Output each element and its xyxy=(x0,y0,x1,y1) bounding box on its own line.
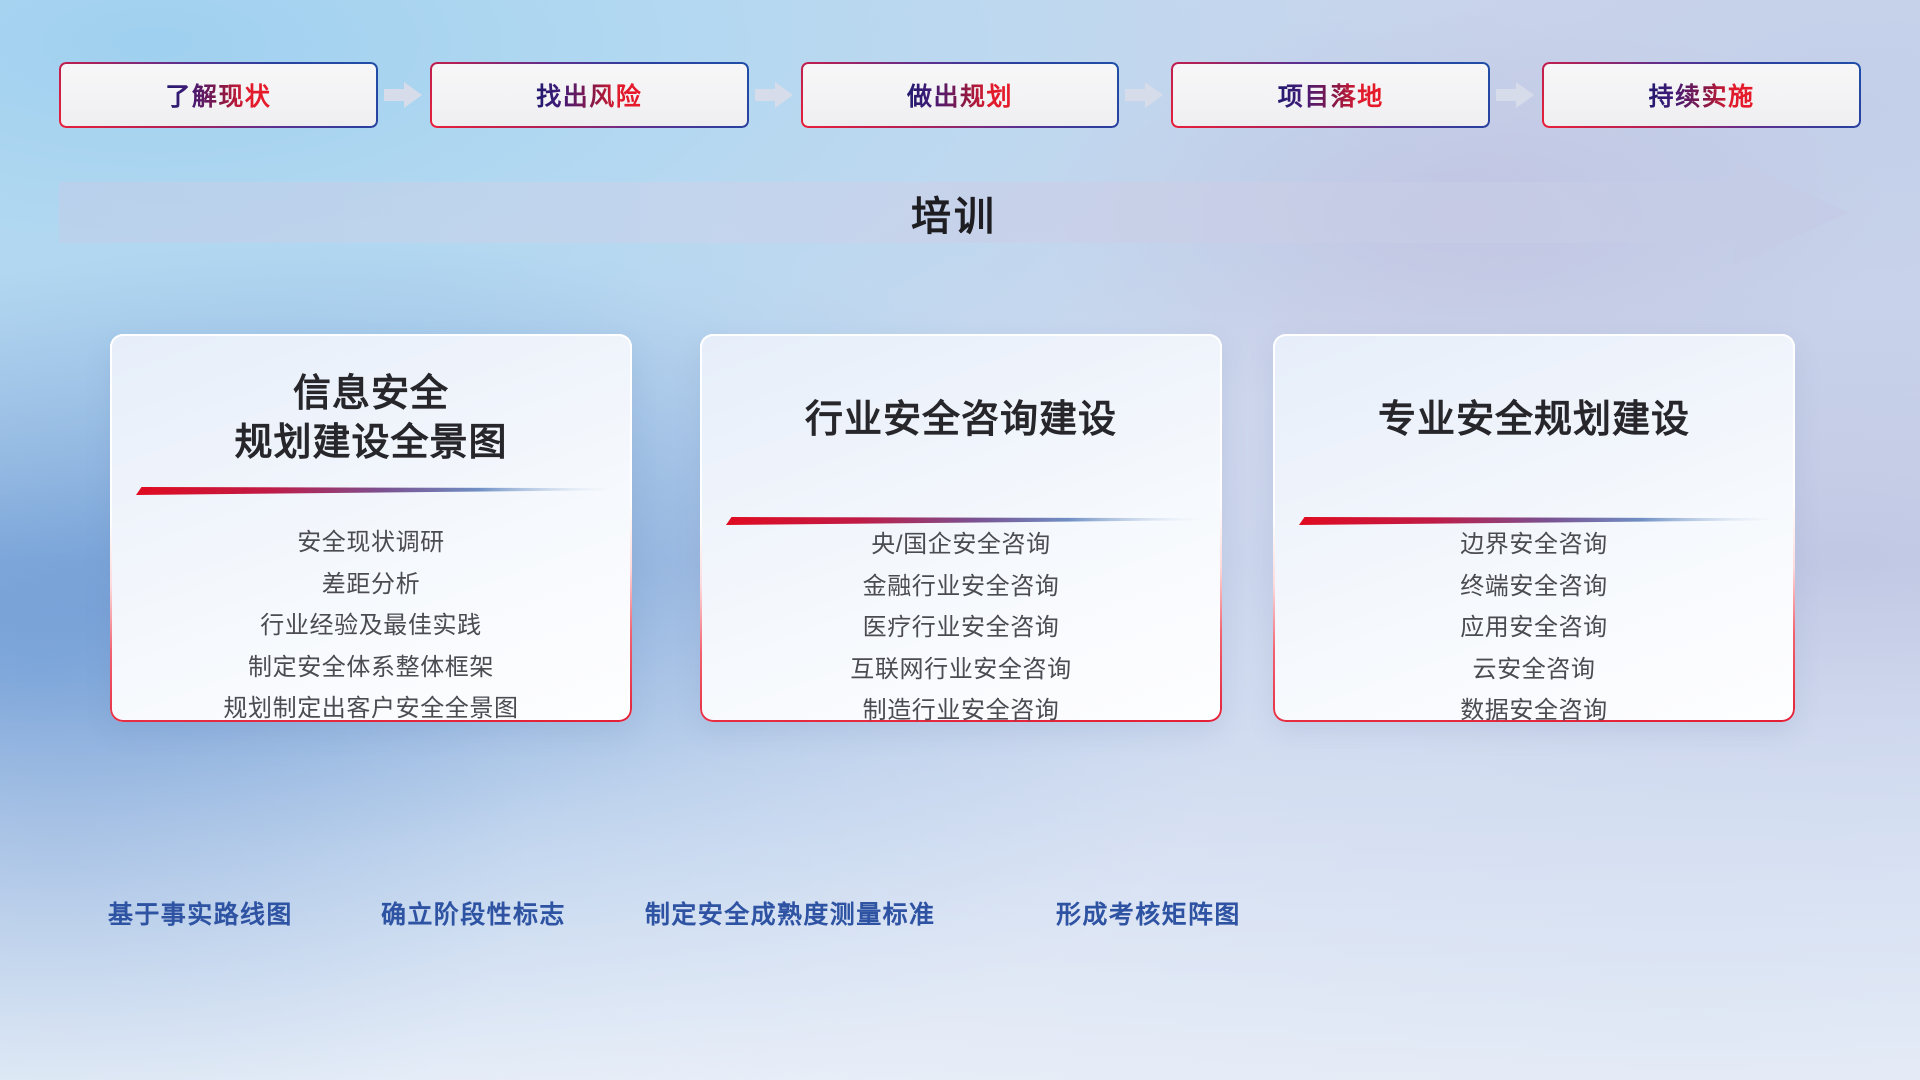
list-item: 数据安全咨询 xyxy=(1291,690,1777,732)
list-item: 应用安全咨询 xyxy=(1291,607,1777,649)
list-item: 行业经验及最佳实践 xyxy=(128,605,614,647)
list-item: 终端安全咨询 xyxy=(1291,566,1777,608)
card-title: 信息安全 规划建设全景图 xyxy=(134,370,608,469)
footnote-row: 基于事实路线图 确立阶段性标志 制定安全成熟度测量标准 形成考核矩阵图 xyxy=(0,895,1920,955)
list-item: 边界安全咨询 xyxy=(1291,524,1777,566)
card-divider-rule xyxy=(136,484,612,498)
list-item: 规划制定出客户安全全景图 xyxy=(128,688,614,730)
list-item: 云安全咨询 xyxy=(1291,649,1777,691)
list-item: 央/国企安全咨询 xyxy=(718,524,1204,566)
list-item: 制定安全体系整体框架 xyxy=(128,647,614,689)
list-item: 安全现状调研 xyxy=(128,522,614,564)
card-item-list: 边界安全咨询 终端安全咨询 应用安全咨询 云安全咨询 数据安全咨询 xyxy=(1291,524,1777,732)
footnote-2: 确立阶段性标志 xyxy=(381,895,566,931)
card-information-security-blueprint[interactable]: 信息安全 规划建设全景图 安全现状调研 差距分析 行业经验及最佳实践 xyxy=(110,334,632,722)
footnote-3: 制定安全成熟度测量标准 xyxy=(645,895,935,931)
list-item: 制造行业安全咨询 xyxy=(718,690,1204,732)
card-item-list: 安全现状调研 差距分析 行业经验及最佳实践 制定安全体系整体框架 规划制定出客户… xyxy=(128,522,614,730)
card-professional-security-planning[interactable]: 专业安全规划建设 边界安全咨询 终端安全咨询 应用安全咨询 云安全 xyxy=(1273,334,1795,722)
list-item: 差距分析 xyxy=(128,564,614,606)
card-item-list: 央/国企安全咨询 金融行业安全咨询 医疗行业安全咨询 互联网行业安全咨询 制造行… xyxy=(718,524,1204,732)
list-item: 金融行业安全咨询 xyxy=(718,566,1204,608)
card-industry-security-consulting[interactable]: 行业安全咨询建设 央/国企安全咨询 金融行业安全咨询 医疗行业安全咨询 xyxy=(700,334,1222,722)
card-title: 行业安全咨询建设 xyxy=(724,396,1198,445)
footnote-1: 基于事实路线图 xyxy=(108,895,293,931)
list-item: 互联网行业安全咨询 xyxy=(718,649,1204,691)
card-title: 专业安全规划建设 xyxy=(1297,396,1771,445)
list-item: 医疗行业安全咨询 xyxy=(718,607,1204,649)
footnote-4: 形成考核矩阵图 xyxy=(1056,895,1241,931)
